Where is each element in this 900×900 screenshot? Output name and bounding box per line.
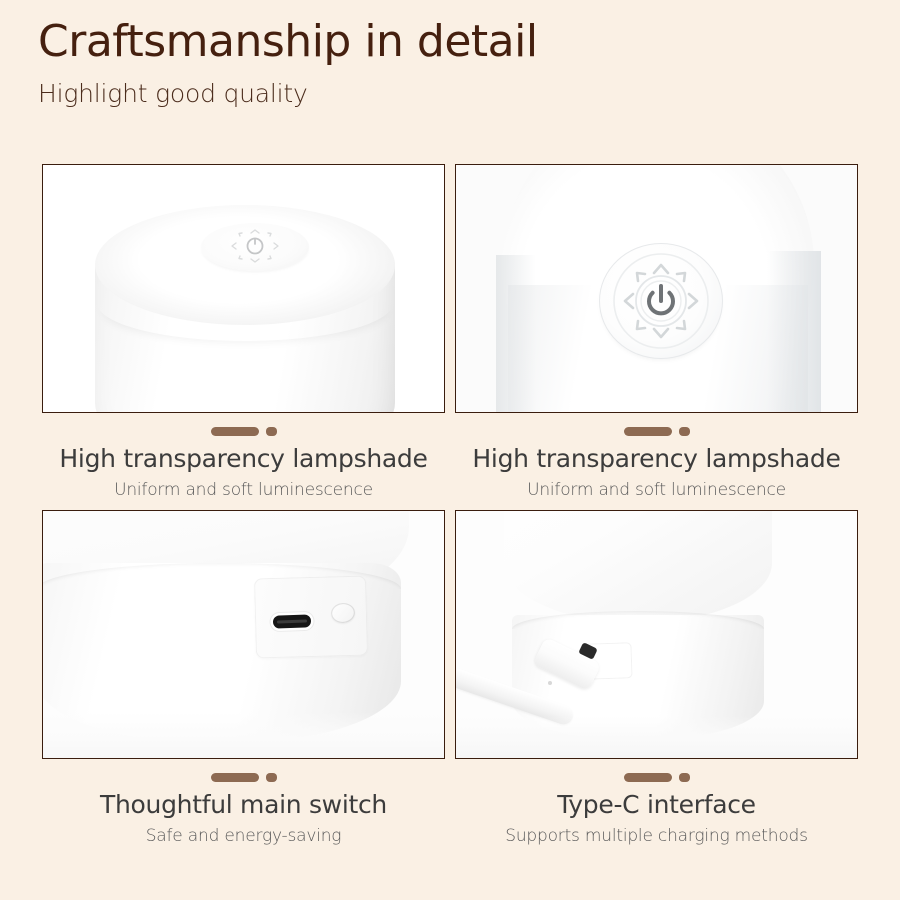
divider-bar-long [624,773,672,782]
feature-card-high-transparency-lampshade-closeup[interactable]: High transparency lampshade Uniform and … [455,164,858,502]
feature-title: High transparency lampshade [42,443,445,475]
product-photo-power-button-closeup [456,165,857,412]
feature-subtitle: Safe and energy-saving [42,824,445,848]
feature-subtitle: Uniform and soft luminescence [42,478,445,502]
feature-caption: Thoughtful main switch Safe and energy-s… [42,759,445,848]
feature-caption: Type-C interface Supports multiple charg… [455,759,858,848]
page-header: Craftsmanship in detail Highlight good q… [38,14,858,111]
feature-caption: High transparency lampshade Uniform and … [42,413,445,502]
power-button [599,243,723,359]
product-photo-frame [42,164,445,413]
product-photo-cable-plugged-in [456,511,857,758]
power-button-icon [216,229,294,263]
product-photo-frame [42,510,445,759]
feature-grid: High transparency lampshade Uniform and … [42,164,858,848]
lamp-shadow-right [767,251,821,412]
feature-title: Thoughtful main switch [42,789,445,821]
divider-bar-short [266,773,277,782]
product-photo-base-usbc-and-switch [43,511,444,758]
caption-divider [455,426,858,436]
caption-divider [455,772,858,782]
feature-subtitle: Supports multiple charging methods [455,824,858,848]
caption-divider [42,426,445,436]
cable-highlight [548,681,552,685]
product-photo-lamp-top-view [43,165,444,412]
page-title: Craftsmanship in detail [38,14,858,70]
caption-divider [42,772,445,782]
product-photo-frame [455,164,858,413]
divider-bar-long [211,427,259,436]
divider-bar-long [211,773,259,782]
feature-card-type-c-interface[interactable]: Type-C interface Supports multiple charg… [455,510,858,848]
feature-subtitle: Uniform and soft luminescence [455,478,858,502]
divider-bar-short [679,773,690,782]
feature-card-thoughtful-main-switch[interactable]: Thoughtful main switch Safe and energy-s… [42,510,445,848]
divider-bar-short [266,427,277,436]
lamp-shadow-left [496,255,536,412]
feature-caption: High transparency lampshade Uniform and … [455,413,858,502]
divider-bar-long [624,427,672,436]
feature-title: High transparency lampshade [455,443,858,475]
photo-floor-shadow [43,712,444,758]
product-photo-frame [455,510,858,759]
photo-floor-shadow [456,716,857,758]
divider-bar-short [679,427,690,436]
feature-title: Type-C interface [455,789,858,821]
lamp-rim [97,265,393,341]
page-subtitle: Highlight good quality [38,77,858,111]
feature-card-high-transparency-lampshade-top[interactable]: High transparency lampshade Uniform and … [42,164,445,502]
